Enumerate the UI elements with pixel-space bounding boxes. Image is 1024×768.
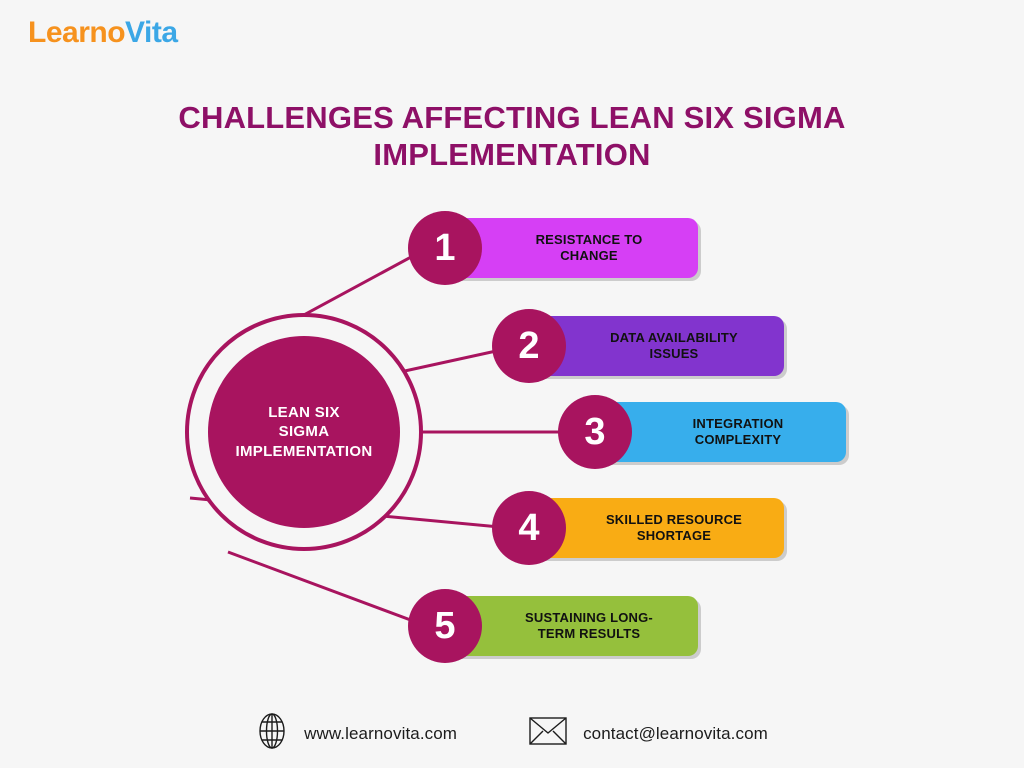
footer-website-text: www.learnovita.com — [304, 724, 457, 744]
center-hub: LEAN SIX SIGMA IMPLEMENTATION — [185, 313, 423, 551]
challenge-bar-2[interactable]: DATA AVAILABILITY ISSUES — [532, 316, 784, 376]
challenge-bar-3[interactable]: INTEGRATION COMPLEXITY — [598, 402, 846, 462]
infographic-diagram: LEAN SIX SIGMA IMPLEMENTATION RESISTANCE… — [0, 180, 1024, 680]
footer-email-text: contact@learnovita.com — [583, 724, 768, 744]
list-item: DATA AVAILABILITY ISSUES 2 — [492, 316, 784, 376]
center-hub-label: LEAN SIX SIGMA IMPLEMENTATION — [230, 403, 379, 462]
list-item: SUSTAINING LONG- TERM RESULTS 5 — [408, 596, 698, 656]
challenge-number-3[interactable]: 3 — [558, 395, 632, 469]
footer-website[interactable]: www.learnovita.com — [256, 712, 457, 755]
footer-email[interactable]: contact@learnovita.com — [529, 717, 768, 750]
list-item: RESISTANCE TO CHANGE 1 — [408, 218, 698, 278]
challenge-label-3: INTEGRATION COMPLEXITY — [693, 416, 784, 449]
envelope-icon — [529, 717, 567, 750]
center-hub-core: LEAN SIX SIGMA IMPLEMENTATION — [208, 336, 400, 528]
challenge-bar-4[interactable]: SKILLED RESOURCE SHORTAGE — [532, 498, 784, 558]
challenge-number-4[interactable]: 4 — [492, 491, 566, 565]
challenge-number-1[interactable]: 1 — [408, 211, 482, 285]
list-item: INTEGRATION COMPLEXITY 3 — [558, 402, 846, 462]
brand-logo: LearnoVita — [28, 18, 178, 48]
challenge-label-5: SUSTAINING LONG- TERM RESULTS — [525, 610, 653, 643]
connector-line-5 — [228, 552, 424, 625]
page-title: CHALLENGES AFFECTING LEAN SIX SIGMA IMPL… — [140, 100, 884, 173]
footer: www.learnovita.com contact@learnovita.co… — [0, 712, 1024, 755]
challenge-label-4: SKILLED RESOURCE SHORTAGE — [606, 512, 742, 545]
challenge-label-1: RESISTANCE TO CHANGE — [536, 232, 643, 265]
challenge-label-2: DATA AVAILABILITY ISSUES — [610, 330, 738, 363]
challenge-number-2[interactable]: 2 — [492, 309, 566, 383]
challenge-bar-1[interactable]: RESISTANCE TO CHANGE — [448, 218, 698, 278]
challenge-bar-5[interactable]: SUSTAINING LONG- TERM RESULTS — [448, 596, 698, 656]
list-item: SKILLED RESOURCE SHORTAGE 4 — [492, 498, 784, 558]
challenge-number-5[interactable]: 5 — [408, 589, 482, 663]
brand-logo-part2: Vita — [125, 16, 177, 49]
brand-logo-part1: Learno — [28, 16, 125, 49]
globe-icon — [256, 712, 288, 755]
